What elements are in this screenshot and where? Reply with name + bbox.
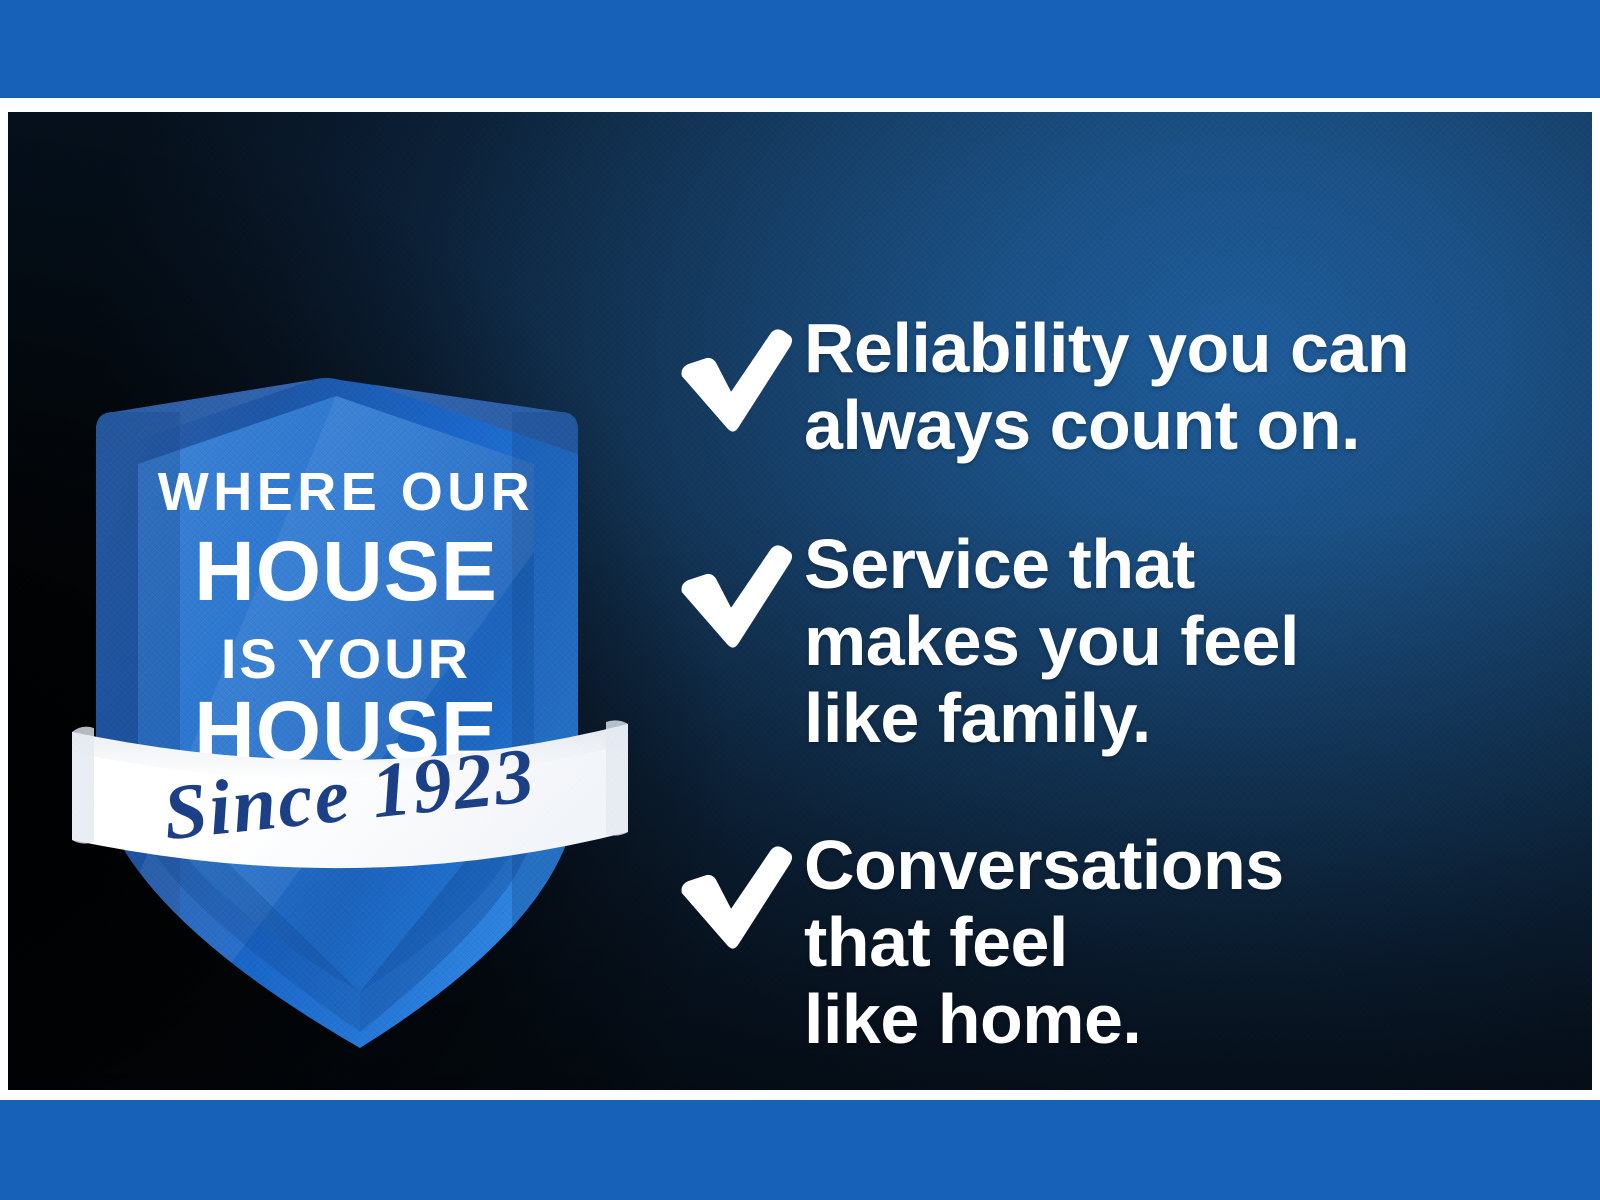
checkmark-icon — [676, 310, 804, 436]
promo-graphic: WHERE OUR HOUSE IS YOUR HOUSE Since 1923 — [0, 0, 1600, 1200]
top-brand-band — [0, 0, 1600, 98]
benefits-list: Reliability you can always count on. Ser… — [676, 310, 1506, 1058]
benefit-item: Conversations that feel like home. — [676, 827, 1506, 1058]
tagline-line-3: IS YOUR — [221, 627, 471, 690]
shield-badge: WHERE OUR HOUSE IS YOUR HOUSE Since 1923 — [60, 352, 640, 1072]
checkmark-icon — [676, 526, 804, 652]
main-panel: WHERE OUR HOUSE IS YOUR HOUSE Since 1923 — [8, 112, 1592, 1090]
benefit-text: Conversations that feel like home. — [804, 827, 1506, 1058]
benefit-text: Service that makes you feel like family. — [804, 526, 1506, 757]
benefit-item: Reliability you can always count on. — [676, 310, 1506, 464]
benefit-item: Service that makes you feel like family. — [676, 526, 1506, 757]
checkmark-icon — [676, 827, 804, 953]
tagline-line-2: HOUSE — [194, 524, 498, 618]
benefit-text: Reliability you can always count on. — [804, 310, 1506, 464]
tagline-line-1: WHERE OUR — [158, 462, 535, 522]
bottom-brand-band — [0, 1100, 1600, 1200]
